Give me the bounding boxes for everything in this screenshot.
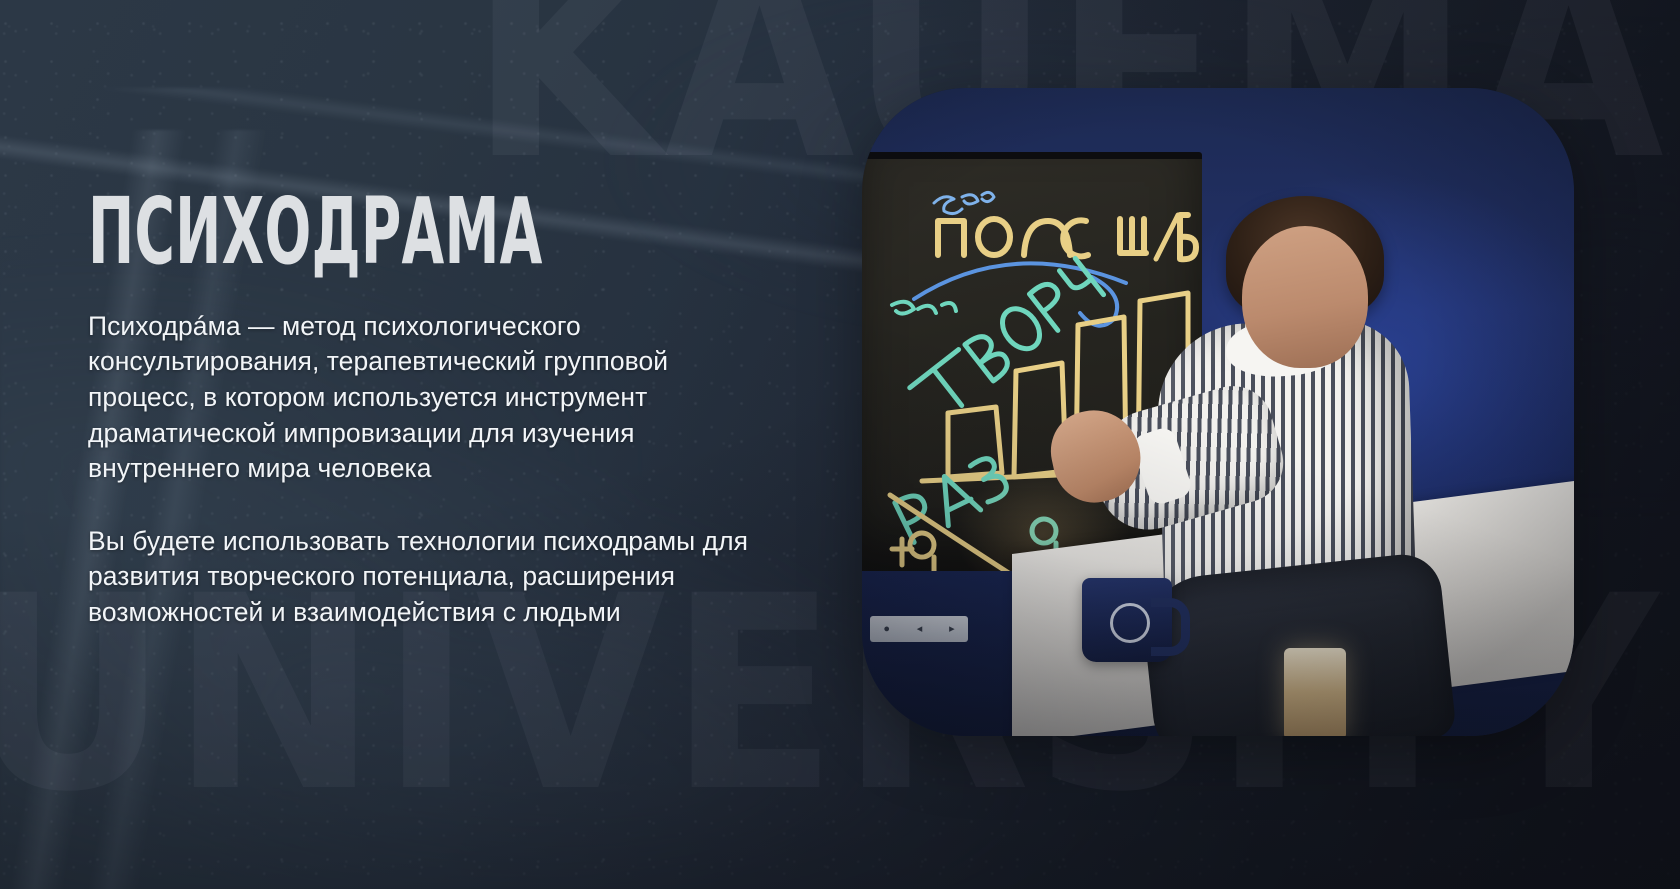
- definition-paragraph: Психодрáма — метод психологического конс…: [88, 309, 778, 487]
- instructor-photo: ● ◂ ▸ ✦ ‹ ›: [862, 88, 1574, 736]
- slide-root: KAUFMAN UNIVERSITY ПСИХОДРАМА Психодрáма…: [0, 0, 1680, 889]
- face: [1242, 226, 1368, 368]
- strip-icon-dot: ●: [883, 624, 890, 635]
- display-control-strip-left[interactable]: ● ◂ ▸: [870, 616, 968, 642]
- candle: [1284, 648, 1346, 736]
- instructor-figure: [1138, 172, 1478, 736]
- text-column: ПСИХОДРАМА Психодрáма — метод психологич…: [88, 190, 788, 631]
- strip-icon-next: ▸: [949, 624, 955, 635]
- page-title: ПСИХОДРАМА: [88, 190, 508, 275]
- strip-icon-prev: ◂: [917, 624, 923, 635]
- benefits-paragraph: Вы будете использовать технологии психод…: [88, 524, 778, 631]
- branded-mug: [1082, 578, 1172, 662]
- mug-logo-icon: [1110, 603, 1150, 643]
- instructor-photo-card: ● ◂ ▸ ✦ ‹ ›: [862, 88, 1574, 736]
- mug-handle: [1151, 598, 1190, 656]
